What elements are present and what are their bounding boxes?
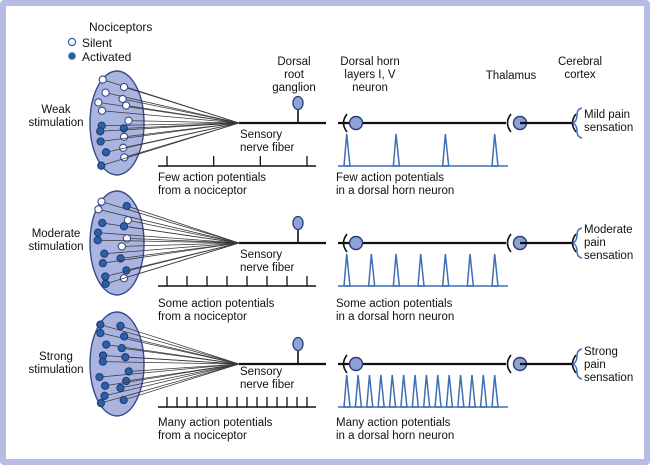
legend-markers-layer [6, 6, 644, 459]
open-circle-icon [68, 38, 75, 45]
figure-canvas: Nociceptors Silent Activated Dorsal root… [6, 6, 644, 459]
filled-circle-icon [68, 52, 76, 60]
pain-pathway-figure: Nociceptors Silent Activated Dorsal root… [0, 0, 650, 465]
